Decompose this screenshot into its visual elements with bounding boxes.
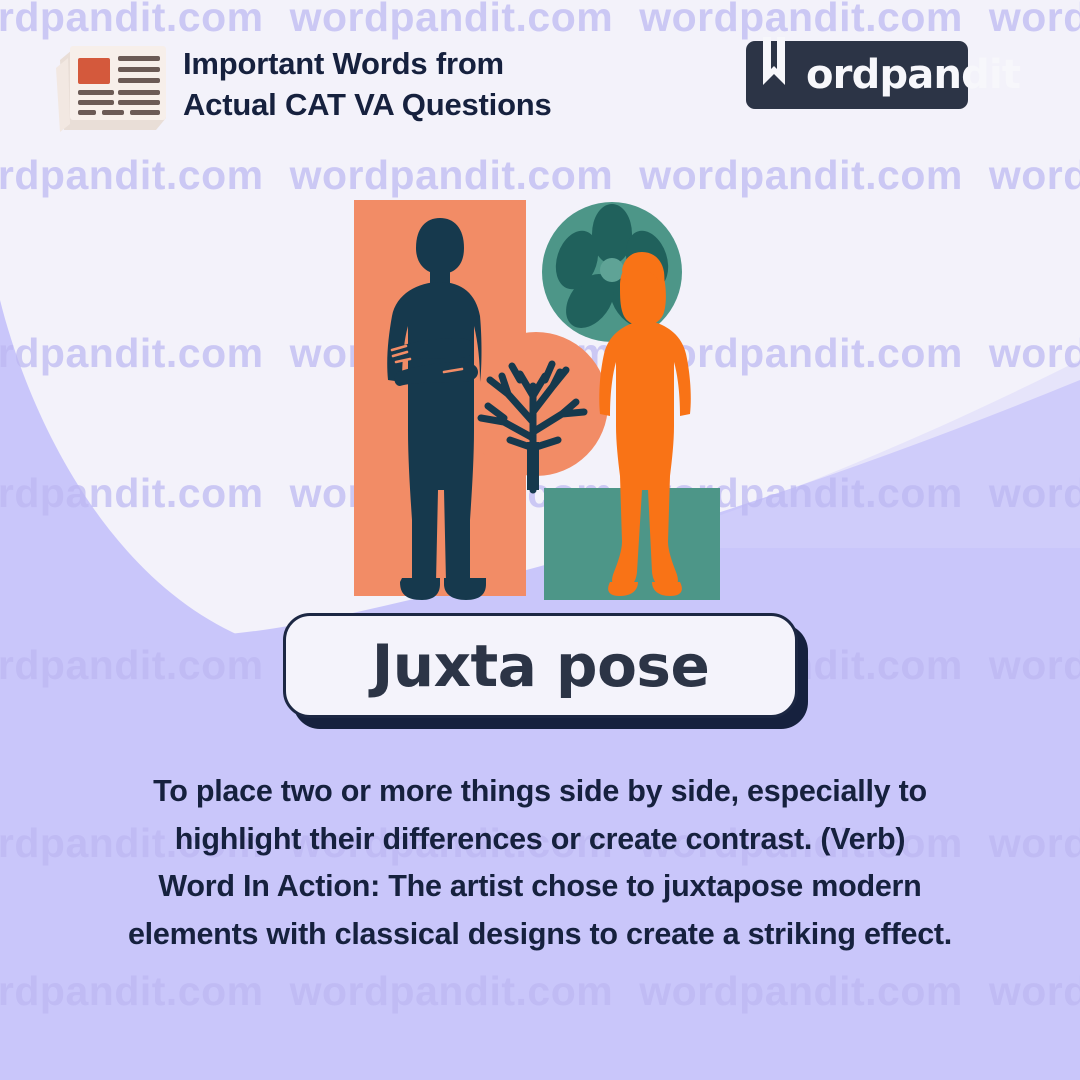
definition-line-3: Word In Action: The artist chose to juxt…: [30, 863, 1050, 911]
page-title-line1: Important Words from: [183, 44, 552, 85]
wordpandit-logo[interactable]: ordpandit: [746, 41, 968, 109]
page-title: Important Words from Actual CAT VA Quest…: [183, 44, 552, 126]
definition-block: To place two or more things side by side…: [30, 768, 1050, 958]
header: Important Words from Actual CAT VA Quest…: [0, 0, 1080, 150]
word-card-wrapper: Juxta pose: [283, 613, 798, 718]
juxtaposition-illustration: [340, 190, 750, 622]
bookmark-w-icon: [759, 37, 803, 99]
word-card: Juxta pose: [283, 613, 798, 718]
tree-trunk: [527, 442, 539, 490]
poster-canvas: wordpandit.comwordpandit.comwordpandit.c…: [0, 0, 1080, 1080]
definition-line-2: highlight their differences or create co…: [30, 816, 1050, 864]
word-title: Juxta pose: [372, 632, 710, 700]
logo-text: ordpandit: [806, 52, 1020, 98]
page-title-line2: Actual CAT VA Questions: [183, 85, 552, 126]
definition-line-4: elements with classical designs to creat…: [30, 911, 1050, 959]
newspaper-icon: [48, 32, 174, 136]
definition-line-1: To place two or more things side by side…: [30, 768, 1050, 816]
